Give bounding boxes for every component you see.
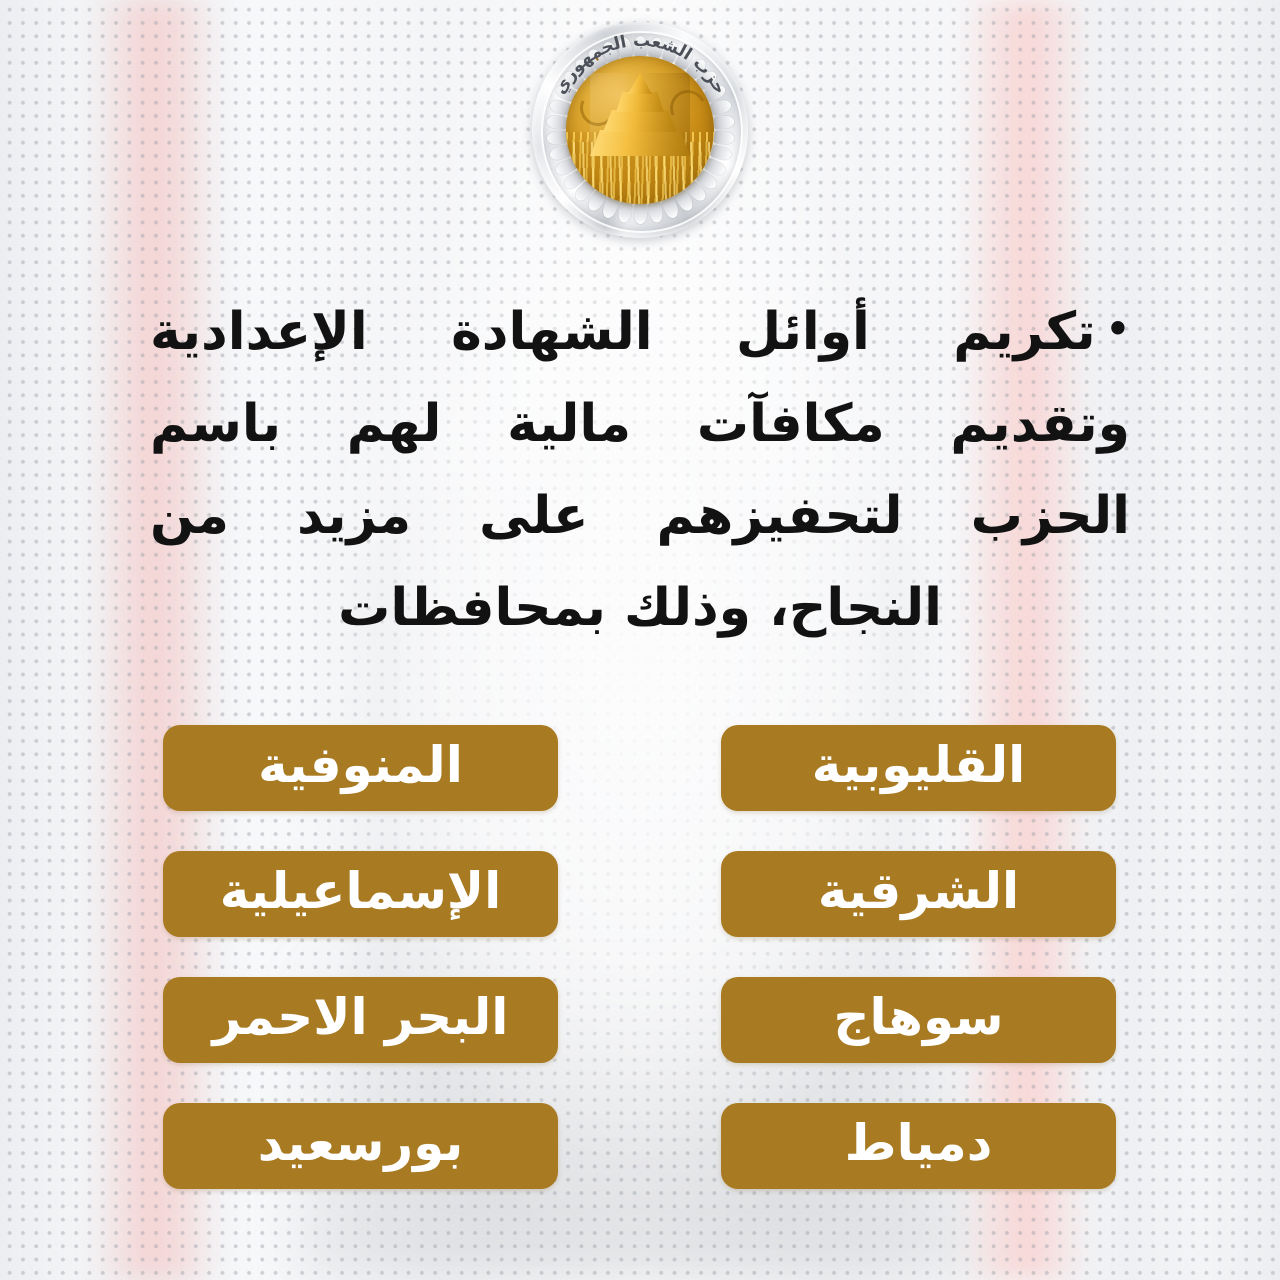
logo-arabic-title: حزب الشعب الجمهوري (532, 22, 748, 238)
logo-latin-title: R.P.P EGYPT (565, 58, 715, 118)
governorate-button-port-said[interactable]: بورسعيد (163, 1103, 558, 1189)
governorate-button-ismailia[interactable]: الإسماعيلية (163, 851, 558, 937)
governorate-button-sharqia[interactable]: الشرقية (721, 851, 1116, 937)
governorate-button-menoufia[interactable]: المنوفية (163, 725, 558, 811)
announcement-line-1-text: تكريم أوائل الشهادة الإعدادية (150, 302, 1096, 362)
governorate-button-sohag[interactable]: سوهاج (721, 977, 1116, 1063)
poster-canvas: حزب الشعب الجمهوري R.P.P EGYPT •تكريم أو… (0, 0, 1280, 1280)
announcement-line-3: الحزب لتحفيزهم على مزيد من (150, 470, 1130, 562)
announcement-line-4: النجاح، وذلك بمحافظات (150, 562, 1130, 654)
announcement-line-2: وتقديم مكافآت مالية لهم باسم (150, 378, 1130, 470)
svg-text:R.P.P EGYPT: R.P.P EGYPT (592, 58, 688, 64)
announcement-text: •تكريم أوائل الشهادة الإعدادية وتقديم مك… (150, 286, 1130, 654)
governorate-button-damietta[interactable]: دمياط (721, 1103, 1116, 1189)
announcement-line-1: •تكريم أوائل الشهادة الإعدادية (150, 286, 1130, 378)
governorate-button-grid: القليوبية المنوفية الشرقية الإسماعيلية س… (163, 725, 1116, 1189)
governorate-button-red-sea[interactable]: البحر الاحمر (163, 977, 558, 1063)
party-logo: حزب الشعب الجمهوري R.P.P EGYPT (532, 22, 748, 238)
governorate-button-qalyubia[interactable]: القليوبية (721, 725, 1116, 811)
